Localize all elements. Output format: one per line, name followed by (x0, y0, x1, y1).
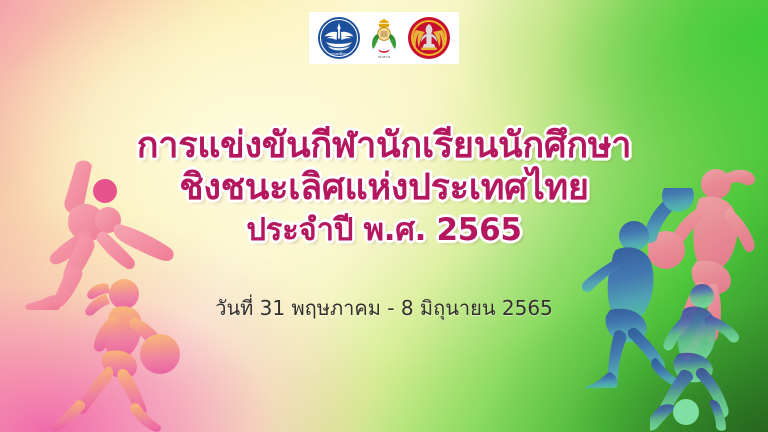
organizer-logos-strip: กรมพลศึกษา กระทรวง (309, 12, 459, 64)
headline-line-3: ประจำปี พ.ศ. 2565 (0, 215, 768, 246)
poster-headline: การแข่งขันกีฬานักเรียนนักศึกษา ชิงชนะเลิ… (0, 128, 768, 246)
department-of-physical-education-emblem-icon: กรมพลศึกษา (317, 16, 361, 60)
event-poster: กรมพลศึกษา กระทรวง (0, 0, 768, 432)
event-date-line: วันที่ 31 พฤษภาคม - 8 มิถุนายน 2565 (0, 292, 768, 324)
svg-text:กรมพลศึกษา: กรมพลศึกษา (330, 52, 349, 56)
royal-thai-government-garuda-emblem-icon (407, 16, 451, 60)
ministry-of-tourism-and-sports-emblem-icon: กระทรวง (367, 16, 401, 60)
headline-line-1: การแข่งขันกีฬานักเรียนนักศึกษา (0, 128, 768, 164)
headline-line-2: ชิงชนะเลิศแห่งประเทศไทย (0, 170, 768, 206)
football-ball-right-silhouette-icon (672, 398, 700, 426)
ministry-logo-caption: กระทรวง (378, 55, 391, 59)
